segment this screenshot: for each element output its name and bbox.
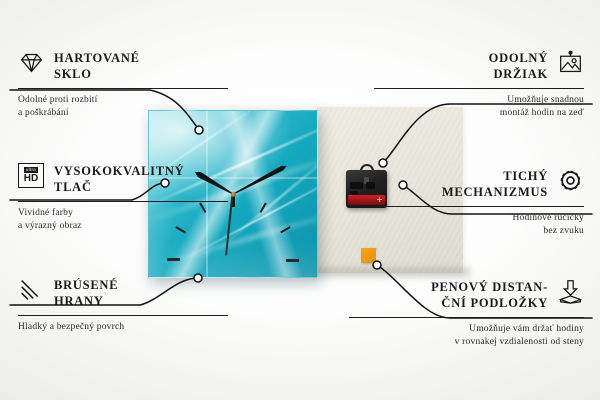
feature-description-line2: montáž hodin na zeď: [374, 107, 584, 120]
movement-detail: [350, 182, 363, 189]
feature-divider: [18, 88, 228, 89]
feature-title-line2: DRŽIAK: [489, 66, 548, 82]
feature-description-line2: a poškrábání: [18, 107, 228, 120]
feature-title-line1: PENOVÝ DISTAN-: [431, 279, 548, 295]
feature-divider: [374, 88, 584, 89]
feature-divider: [349, 317, 584, 318]
product-infographic: HARTOVANÉ SKLO Odolné proti rozbití a po…: [0, 0, 600, 400]
ultra-hd-icon: ultra HD: [18, 163, 45, 188]
feature-title-line2: ČNÍ PODLOŽKY: [431, 295, 548, 311]
feature-title-line1: HARTOVANÉ: [54, 50, 140, 66]
clock-tick: [233, 259, 299, 261]
feature-high-quality-print: ultra HD VYSOKOKVALITNÝ TLAČ Vividné far…: [18, 163, 228, 232]
feature-title-line2: HRANY: [54, 293, 118, 309]
feature-tempered-glass: HARTOVANÉ SKLO Odolné proti rozbití a po…: [18, 50, 228, 119]
foam-spacer: [361, 248, 376, 263]
feature-durable-holder: ODOLNÝ DRŽIAK Umožňuje snadnou montáž ho…: [374, 50, 584, 119]
feature-title-line2: SKLO: [54, 66, 140, 82]
clock-minute-hand: [232, 164, 287, 197]
feature-title-line2: TLAČ: [54, 179, 184, 195]
feature-silent-mechanism: TICHÝ MECHANIZMUS Hodinové ručičky bez z…: [374, 168, 584, 237]
feature-ground-edges: BRÚSENÉ HRANY Hladký a bezpečný povrch: [18, 277, 228, 334]
feature-title-line1: TICHÝ: [442, 168, 548, 184]
picture-frame-icon: [557, 50, 584, 75]
feature-title-line1: BRÚSENÉ: [54, 277, 118, 293]
feature-divider: [18, 201, 228, 202]
ultra-hd-large-text: HD: [24, 174, 38, 184]
ultra-hd-small-text: ultra: [24, 167, 38, 173]
feature-description-line1: Vividné farby: [18, 207, 228, 220]
gear-icon: [557, 168, 584, 193]
feature-title-line1: VYSOKOKVALITNÝ: [54, 163, 184, 179]
clock-center-pin: [231, 192, 236, 197]
diamond-icon: [18, 50, 45, 75]
feature-description-line2: bez zvuku: [374, 225, 584, 238]
feature-description-line1: Umožňuje vám držať hodiny: [349, 323, 584, 336]
feature-divider: [374, 206, 584, 207]
feature-divider: [18, 315, 228, 316]
feature-description-line2: v rovnakej vzdialenosti od steny: [349, 336, 584, 349]
feature-description-line1: Hodinové ručičky: [374, 212, 584, 225]
feature-title-line1: ODOLNÝ: [489, 50, 548, 66]
diagonal-lines-icon: [18, 277, 45, 302]
feature-title-line2: MECHANIZMUS: [442, 184, 548, 200]
feature-description-line1: Umožňuje snadnou: [374, 94, 584, 107]
clock-tick: [167, 259, 233, 261]
press-down-icon: [557, 279, 584, 304]
feature-description-line2: a výrazný obraz: [18, 220, 228, 233]
feature-foam-spacers: PENOVÝ DISTAN- ČNÍ PODLOŽKY Umožňuje vám…: [349, 279, 584, 348]
feature-description-line1: Hladký a bezpečný povrch: [18, 321, 228, 334]
feature-description-line1: Odolné proti rozbití: [18, 94, 228, 107]
